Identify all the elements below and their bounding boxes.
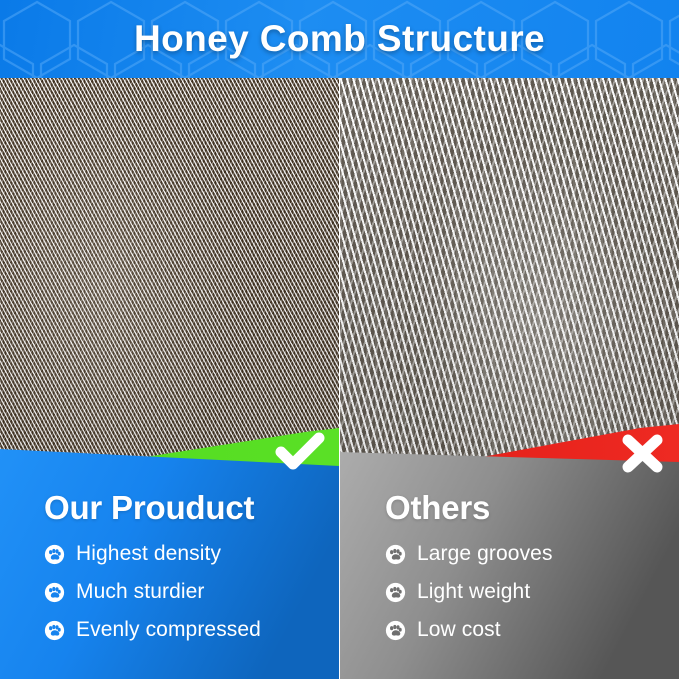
left-panel-title: Our Prouduct — [44, 489, 334, 527]
list-item: Large grooves — [385, 541, 670, 567]
paw-icon — [44, 544, 65, 565]
feature-label: Light weight — [417, 580, 530, 604]
list-item: Much sturdier — [44, 579, 334, 605]
feature-label: Large grooves — [417, 542, 553, 566]
left-panel-content: Our Prouduct Highest density — [44, 489, 334, 655]
list-item: Light weight — [385, 579, 670, 605]
paw-icon — [385, 620, 406, 641]
feature-label: Highest density — [76, 542, 221, 566]
feature-label: Much sturdier — [76, 580, 205, 604]
header-banner: Honey Comb Structure — [0, 0, 679, 78]
paw-icon — [44, 620, 65, 641]
right-panel-content: Others Large grooves — [385, 489, 670, 655]
paw-icon — [385, 544, 406, 565]
paw-icon — [44, 582, 65, 603]
list-item: Highest density — [44, 541, 334, 567]
list-item: Low cost — [385, 617, 670, 643]
list-item: Evenly compressed — [44, 617, 334, 643]
left-feature-list: Highest density Much sturdier — [44, 541, 334, 643]
right-feature-list: Large grooves Light weight — [385, 541, 670, 643]
product-comparison-infographic: Honey Comb Structure — [0, 0, 679, 679]
photo-divider — [339, 78, 340, 679]
page-title: Honey Comb Structure — [0, 0, 679, 78]
paw-icon — [385, 582, 406, 603]
feature-label: Evenly compressed — [76, 618, 261, 642]
right-panel-title: Others — [385, 489, 670, 527]
feature-label: Low cost — [417, 618, 501, 642]
